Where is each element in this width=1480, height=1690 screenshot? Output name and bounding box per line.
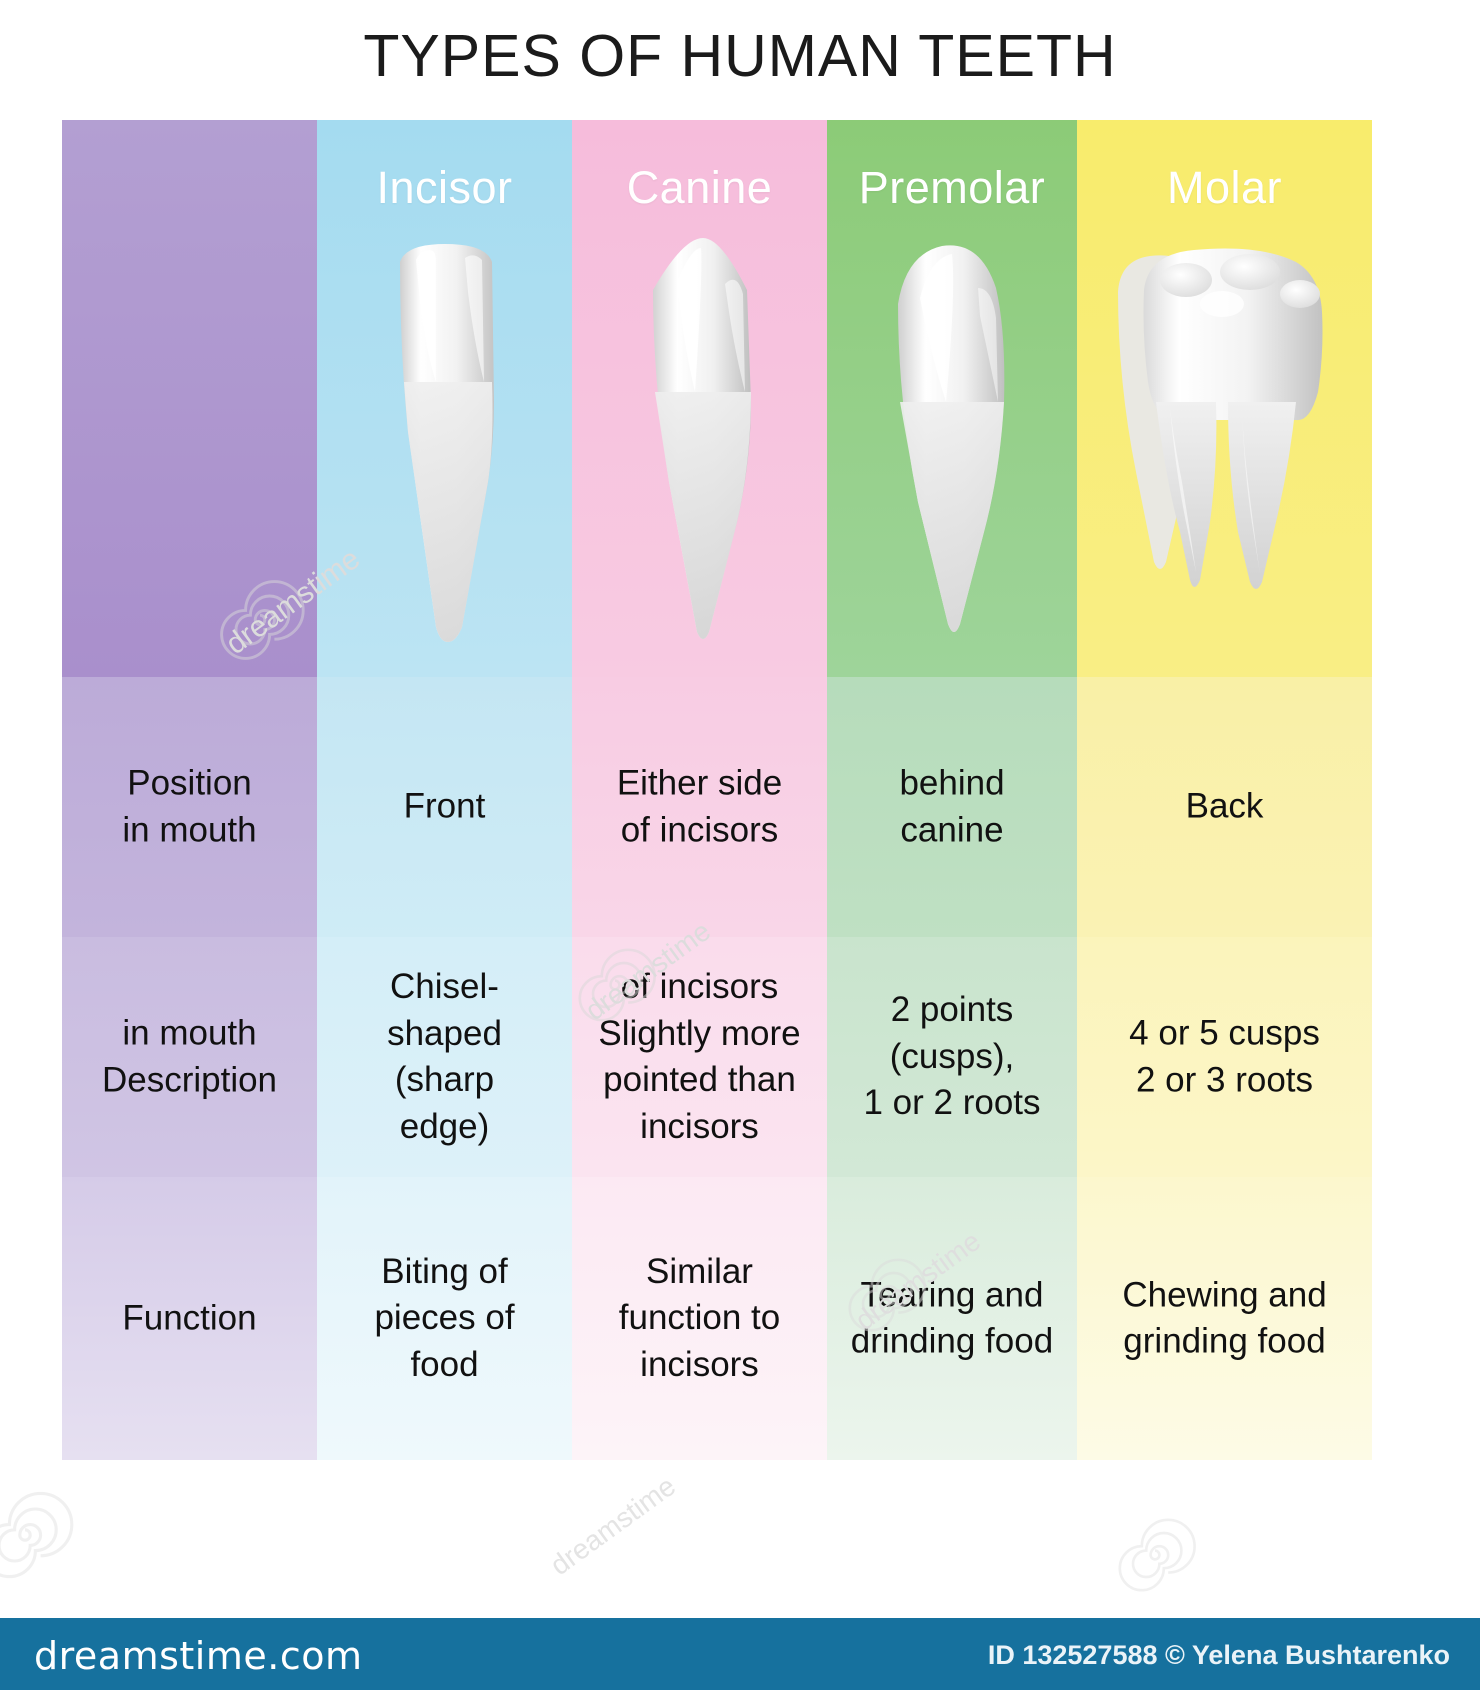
column-header-incisor: Incisor bbox=[317, 162, 572, 214]
cell-description-canine: of incisorsSlightly morepointed thaninci… bbox=[572, 937, 827, 1177]
cell-text: Biting ofpieces offood bbox=[317, 1249, 572, 1389]
cell-text: Similarfunction toincisors bbox=[572, 1249, 827, 1389]
header-cell-incisor: Incisor bbox=[317, 120, 572, 677]
cell-text: of incisorsSlightly morepointed thaninci… bbox=[572, 964, 827, 1150]
infographic-canvas: TYPES OF HUMAN TEETH Incisor bbox=[0, 0, 1480, 1690]
cell-text: Chisel-shaped(sharpedge) bbox=[317, 964, 572, 1150]
cell-text: 4 or 5 cusps2 or 3 roots bbox=[1077, 1010, 1372, 1103]
row-label-description: in mouthDescription bbox=[62, 937, 317, 1177]
cell-text: behindcanine bbox=[827, 760, 1077, 853]
cell-position-molar: Back bbox=[1077, 677, 1372, 937]
cell-text: 2 points(cusps),1 or 2 roots bbox=[827, 987, 1077, 1127]
canine-tooth-icon bbox=[572, 232, 827, 671]
header-cell-molar: Molar bbox=[1077, 120, 1372, 677]
column-header-canine: Canine bbox=[572, 162, 827, 214]
cell-text: Front bbox=[317, 784, 572, 831]
cell-function-molar: Chewing andgrinding food bbox=[1077, 1177, 1372, 1460]
premolar-tooth-icon bbox=[827, 232, 1077, 671]
cell-function-canine: Similarfunction toincisors bbox=[572, 1177, 827, 1460]
teeth-comparison-table: Incisor bbox=[62, 120, 1372, 1460]
dreamstime-logo: dreamstime.com bbox=[34, 1634, 362, 1678]
cell-description-incisor: Chisel-shaped(sharpedge) bbox=[317, 937, 572, 1177]
watermark-spiral-icon bbox=[1100, 1500, 1210, 1610]
cell-text: Either sideof incisors bbox=[572, 760, 827, 853]
cell-position-canine: Either sideof incisors bbox=[572, 677, 827, 937]
footer-bar: dreamstime.com ID 132527588 © Yelena Bus… bbox=[0, 1618, 1480, 1690]
watermark-text: dreamstime bbox=[545, 1470, 682, 1582]
cell-position-premolar: behindcanine bbox=[827, 677, 1077, 937]
molar-tooth-icon bbox=[1077, 232, 1372, 671]
header-cell-premolar: Premolar bbox=[827, 120, 1077, 677]
header-cell-blank bbox=[62, 120, 317, 677]
cell-description-premolar: 2 points(cusps),1 or 2 roots bbox=[827, 937, 1077, 1177]
cell-text: Tearing anddrinding food bbox=[827, 1272, 1077, 1365]
row-label-position: Positionin mouth bbox=[62, 677, 317, 937]
column-header-premolar: Premolar bbox=[827, 162, 1077, 214]
row-label-function: Function bbox=[62, 1177, 317, 1460]
cell-text: Chewing andgrinding food bbox=[1077, 1272, 1372, 1365]
row-label-description-text: in mouthDescription bbox=[62, 1010, 317, 1103]
cell-function-premolar: Tearing anddrinding food bbox=[827, 1177, 1077, 1460]
cell-text: Back bbox=[1077, 784, 1372, 831]
cell-description-molar: 4 or 5 cusps2 or 3 roots bbox=[1077, 937, 1372, 1177]
header-cell-canine: Canine bbox=[572, 120, 827, 677]
row-label-position-text: Positionin mouth bbox=[62, 760, 317, 853]
cell-function-incisor: Biting ofpieces offood bbox=[317, 1177, 572, 1460]
incisor-tooth-icon bbox=[317, 232, 572, 671]
cell-position-incisor: Front bbox=[317, 677, 572, 937]
row-label-function-text: Function bbox=[62, 1295, 317, 1342]
page-title: TYPES OF HUMAN TEETH bbox=[0, 22, 1480, 90]
column-header-molar: Molar bbox=[1077, 162, 1372, 214]
image-credit: ID 132527588 © Yelena Bushtarenko bbox=[988, 1640, 1450, 1671]
brand-text: dreamstime.com bbox=[34, 1634, 362, 1678]
watermark-spiral-icon bbox=[0, 1470, 90, 1600]
